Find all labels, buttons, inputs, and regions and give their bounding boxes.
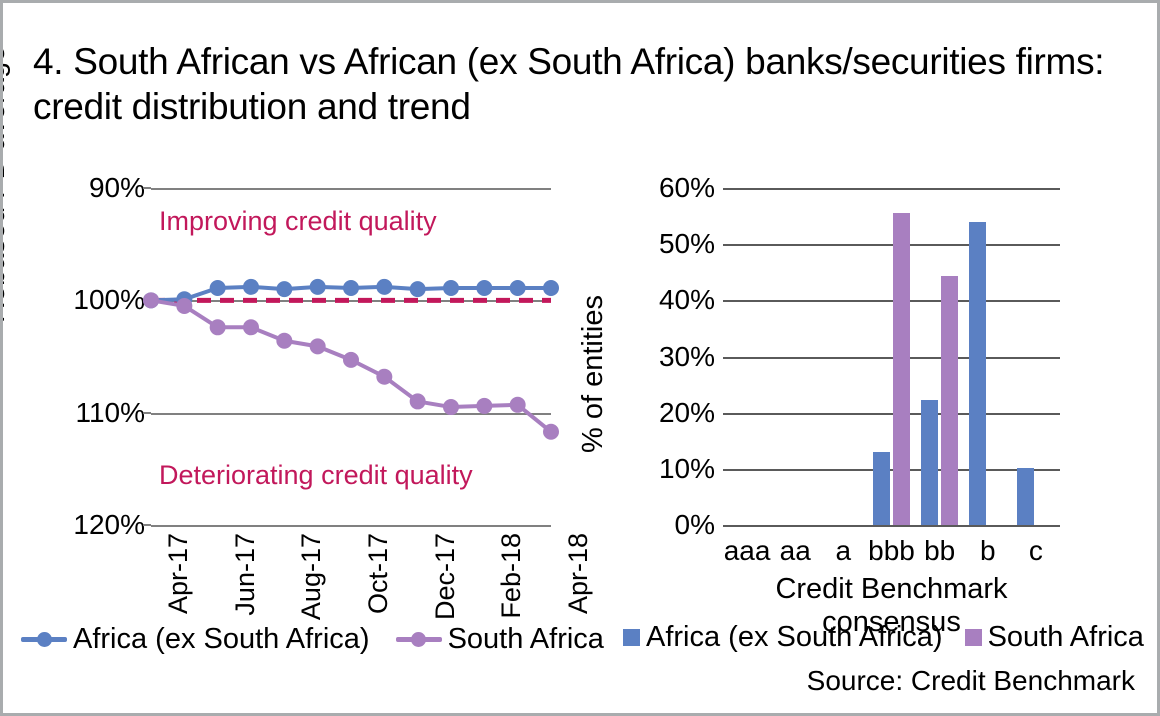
x-axis-tick-label: aaa [724,535,771,567]
y-axis-tick-label: 10% [659,453,715,485]
legend-label: South Africa [448,623,604,656]
data-point-marker [143,292,159,308]
data-point-marker [510,397,526,413]
legend-item-south-africa[interactable]: South Africa [396,623,604,656]
legend-line-marker-icon [21,637,67,642]
data-point-marker [476,398,492,414]
bar [941,276,958,525]
y-axis-tick-label: 90% [89,172,145,204]
y-axis-tick-label: 50% [659,228,715,260]
x-axis-tick-label: Apr-17 [163,533,194,614]
bar [921,400,938,525]
bar-group [916,188,964,525]
bar [969,222,986,525]
bar-group [771,188,819,525]
y-axis-tick-label: 60% [659,172,715,204]
legend-square-icon [965,629,982,646]
y-axis-tick-label: 20% [659,397,715,429]
y-axis-tick-label: 40% [659,284,715,316]
data-point-marker [543,280,559,296]
gridline [151,525,551,527]
y-axis-tick-label: 100% [73,284,145,316]
x-axis-tick-label: Jun-17 [230,533,261,616]
bar [1017,468,1034,525]
x-axis-tick-label: Oct-17 [363,533,394,614]
x-axis-tick-label: bbb [868,535,915,567]
data-point-marker [343,352,359,368]
legend-label: Africa (ex South Africa) [73,623,370,656]
data-point-marker [543,424,559,440]
data-point-marker [443,399,459,415]
line-chart-series-svg [151,188,551,525]
bar [873,452,890,525]
line-chart-panel: Rebased PD average 90%100%110%120% Impro… [3,153,583,623]
data-point-marker [443,280,459,296]
data-point-marker [176,298,192,314]
data-point-marker [343,280,359,296]
source-caption: Source: Credit Benchmark [807,665,1135,697]
legend-label: South Africa [988,621,1144,654]
y-axis-tick-label: 110% [75,397,145,429]
x-axis-tick-label: Dec-17 [430,533,461,620]
x-axis-tick-label: a [836,535,852,567]
y-axis-tick-mark [143,524,151,526]
x-axis-tick-label: Feb-18 [496,533,527,619]
data-point-marker [376,369,392,385]
legend-line-marker-icon [396,637,442,642]
y-axis-tick-label: 0% [675,509,715,541]
bar-group [964,188,1012,525]
y-axis-tick-label: 30% [659,341,715,373]
data-point-marker [410,281,426,297]
x-axis-tick-label: b [980,535,996,567]
gridline [723,525,1060,527]
line-chart-y-axis-label: Rebased PD average [0,46,12,323]
bar-chart-legend: Africa (ex South Africa) South Africa [623,621,1144,654]
bar-group [1012,188,1060,525]
bar-group [867,188,915,525]
data-point-marker [243,279,259,295]
data-point-marker [410,393,426,409]
data-point-marker [476,280,492,296]
bar [893,213,910,525]
data-point-marker [210,319,226,335]
bar-group [819,188,867,525]
line-chart-plot-area: 90%100%110%120% Improving credit quality… [151,188,551,525]
y-axis-tick-label: 120% [73,509,145,541]
data-point-marker [276,333,292,349]
x-axis-tick-label: Aug-17 [296,533,327,620]
legend-item-africa-ex-south-africa[interactable]: Africa (ex South Africa) [623,621,943,654]
data-point-marker [210,280,226,296]
legend-item-africa-ex-south-africa[interactable]: Africa (ex South Africa) [21,623,370,656]
y-axis-tick-mark [143,187,151,189]
data-point-marker [510,280,526,296]
bar-group [723,188,771,525]
x-axis-tick-label: c [1029,535,1043,567]
line-chart-legend: Africa (ex South Africa) South Africa [21,623,604,656]
y-axis-tick-mark [143,412,151,414]
page-title: 4. South African vs African (ex South Af… [33,39,1138,129]
data-point-marker [310,338,326,354]
data-point-marker [376,279,392,295]
bar-chart-panel: % of entities 0%10%20%30%40%50%60% aaaaa… [583,153,1160,623]
legend-square-icon [623,629,640,646]
data-point-marker [243,319,259,335]
x-axis-tick-label: aa [780,535,811,567]
bar-chart-y-axis-label: % of entities [577,295,610,453]
chart-figure: 4. South African vs African (ex South Af… [0,0,1160,716]
bar-chart-plot-area: 0%10%20%30%40%50%60% aaaaaabbbbbbc Credi… [723,188,1060,525]
data-point-marker [310,279,326,295]
legend-item-south-africa[interactable]: South Africa [965,621,1144,654]
data-point-marker [276,281,292,297]
x-axis-tick-label: bb [924,535,955,567]
legend-label: Africa (ex South Africa) [646,621,943,654]
